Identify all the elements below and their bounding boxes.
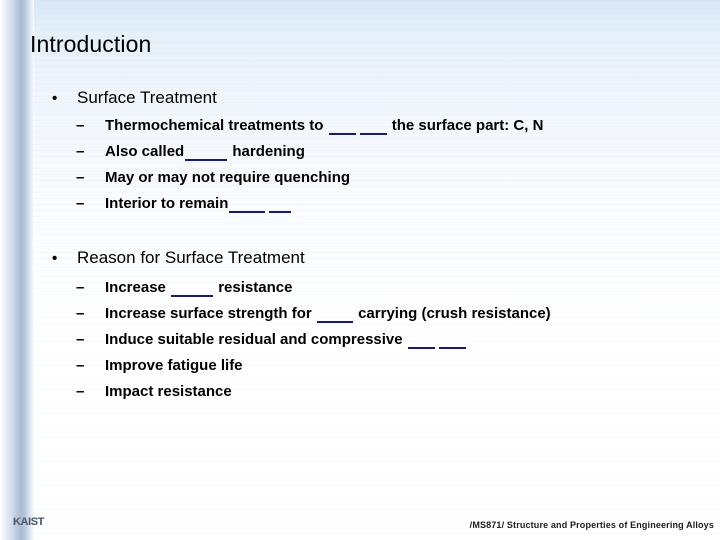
bullet-level2: –May or may not require quenching: [76, 169, 350, 186]
bullet-level2-text: Interior to remain: [105, 195, 292, 214]
text-run: carrying (crush resistance): [354, 305, 551, 322]
slide-footer: /MS871/ Structure and Properties of Engi…: [470, 520, 714, 530]
bullet-level2: –Increase surface strength for carrying …: [76, 305, 551, 324]
fill-in-blank: [269, 194, 291, 213]
slide-title: Introduction: [30, 30, 151, 58]
fill-in-blank: [185, 142, 227, 161]
bullet-level2: –Improve fatigue life: [76, 357, 243, 374]
text-run: the surface part: C, N: [388, 117, 544, 134]
dash-marker-icon: –: [76, 117, 105, 134]
bullet-level1-text: Reason for Surface Treatment: [77, 248, 305, 268]
bullet-level2: –Interior to remain: [76, 195, 292, 214]
fill-in-blank: [360, 116, 387, 135]
dash-marker-icon: –: [76, 305, 105, 322]
text-run: Also called: [105, 143, 184, 160]
bullet-level1-text: Surface Treatment: [77, 88, 217, 108]
bullet-level2-text: May or may not require quenching: [105, 169, 350, 186]
dash-marker-icon: –: [76, 195, 105, 212]
bullet-level2-text: Impact resistance: [105, 383, 232, 400]
dash-marker-icon: –: [76, 357, 105, 374]
presentation-slide: Introduction •Surface Treatment–Thermoch…: [0, 0, 720, 540]
dash-marker-icon: –: [76, 279, 105, 296]
dash-marker-icon: –: [76, 383, 105, 400]
fill-in-blank: [329, 116, 356, 135]
fill-in-blank: [439, 330, 466, 349]
bullet-level1: •Reason for Surface Treatment: [52, 248, 305, 268]
text-run: Interior to remain: [105, 195, 228, 212]
bullet-level2: –Induce suitable residual and compressiv…: [76, 331, 467, 350]
fill-in-blank: [171, 278, 213, 297]
text-run: Thermochemical treatments to: [105, 117, 328, 134]
left-band-highlight: [33, 0, 35, 540]
bullet-level2-text: Increase resistance: [105, 279, 292, 298]
bullet-level2: –Increase resistance: [76, 279, 292, 298]
text-run: Impact resistance: [105, 383, 232, 400]
bullet-level2-text: Thermochemical treatments to the surface…: [105, 117, 543, 136]
bullet-level1: •Surface Treatment: [52, 88, 217, 108]
background-scanlines: [34, 0, 720, 540]
bullet-level2: –Thermochemical treatments to the surfac…: [76, 117, 543, 136]
fill-in-blank: [317, 304, 353, 323]
text-run: resistance: [214, 279, 292, 296]
dash-marker-icon: –: [76, 331, 105, 348]
bullet-level2-text: Induce suitable residual and compressive: [105, 331, 467, 350]
bullet-level2-text: Also called hardening: [105, 143, 305, 162]
left-decorative-band: [0, 0, 34, 540]
bullet-level2-text: Increase surface strength for carrying (…: [105, 305, 551, 324]
text-run: May or may not require quenching: [105, 169, 350, 186]
fill-in-blank: [408, 330, 435, 349]
kaist-logo: KAIST: [11, 515, 46, 529]
bullet-level2: –Also called hardening: [76, 143, 305, 162]
text-run: Improve fatigue life: [105, 357, 243, 374]
bullet-level2-text: Improve fatigue life: [105, 357, 243, 374]
text-run: Increase: [105, 279, 170, 296]
text-run: Increase surface strength for: [105, 305, 316, 322]
text-run: hardening: [228, 143, 305, 160]
text-run: Induce suitable residual and compressive: [105, 331, 407, 348]
bullet-marker-icon: •: [52, 251, 77, 266]
dash-marker-icon: –: [76, 169, 105, 186]
fill-in-blank: [229, 194, 265, 213]
bullet-marker-icon: •: [52, 91, 77, 106]
dash-marker-icon: –: [76, 143, 105, 160]
bullet-level2: –Impact resistance: [76, 383, 232, 400]
